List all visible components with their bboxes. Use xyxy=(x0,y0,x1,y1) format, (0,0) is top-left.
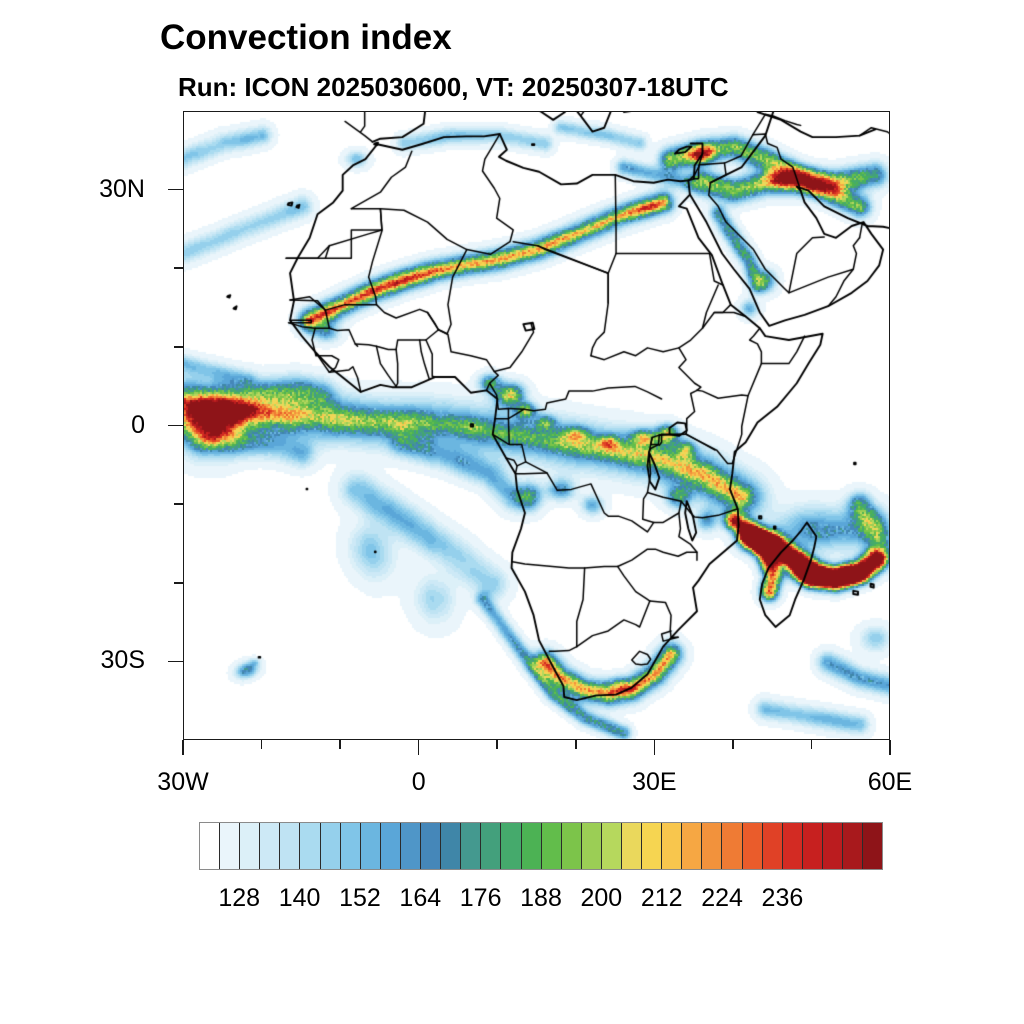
colorbar-cell-0 xyxy=(200,823,220,869)
x-tick-20 xyxy=(575,740,577,749)
colorbar-cell-29 xyxy=(783,823,803,869)
colorbar-cell-30 xyxy=(803,823,823,869)
colorbar-cell-9 xyxy=(381,823,401,869)
colorbar-cell-22 xyxy=(642,823,662,869)
y-tick-20 xyxy=(174,267,183,269)
colorbar-cell-23 xyxy=(662,823,682,869)
y-axis-label-0: 0 xyxy=(25,411,145,440)
y-tick--20 xyxy=(174,582,183,584)
figure-subtitle: Run: ICON 2025030600, VT: 20250307-18UTC xyxy=(178,72,729,103)
x-tick-30 xyxy=(654,740,656,755)
colorbar-cell-2 xyxy=(240,823,260,869)
x-tick-0 xyxy=(418,740,420,755)
colorbar-cell-7 xyxy=(341,823,361,869)
convection-index-heatmap xyxy=(184,112,890,740)
colorbar-cell-32 xyxy=(843,823,863,869)
colorbar-cell-15 xyxy=(501,823,521,869)
colorbar-cell-26 xyxy=(722,823,742,869)
colorbar-cell-14 xyxy=(481,823,501,869)
map-plot-area xyxy=(183,111,890,740)
x-axis-label-60E: 60E xyxy=(830,768,950,797)
colorbar-cell-13 xyxy=(461,823,481,869)
colorbar-cell-5 xyxy=(300,823,320,869)
x-tick-50 xyxy=(811,740,813,749)
colorbar-cell-18 xyxy=(562,823,582,869)
colorbar-cell-28 xyxy=(763,823,783,869)
colorbar-cell-4 xyxy=(280,823,300,869)
x-axis-label-0: 0 xyxy=(359,768,479,797)
colorbar-cell-3 xyxy=(260,823,280,869)
colorbar-tick-236: 236 xyxy=(737,884,827,913)
colorbar-cell-12 xyxy=(441,823,461,869)
x-tick-40 xyxy=(732,740,734,749)
colorbar-cell-27 xyxy=(743,823,763,869)
y-tick-30 xyxy=(168,189,183,191)
colorbar-cell-17 xyxy=(542,823,562,869)
colorbar-cell-19 xyxy=(582,823,602,869)
page-title: Convection index xyxy=(160,18,452,58)
colorbar-cell-6 xyxy=(321,823,341,869)
colorbar-cell-33 xyxy=(863,823,882,869)
figure-canvas: Convection index Run: ICON 2025030600, V… xyxy=(0,0,1024,1024)
x-tick--30 xyxy=(182,740,184,755)
x-tick--10 xyxy=(339,740,341,749)
colorbar-cell-11 xyxy=(421,823,441,869)
y-tick--30 xyxy=(168,661,183,663)
y-tick-0 xyxy=(168,425,183,427)
colorbar-cell-21 xyxy=(622,823,642,869)
colorbar-cell-31 xyxy=(823,823,843,869)
x-tick--20 xyxy=(261,740,263,749)
colorbar-cell-24 xyxy=(682,823,702,869)
colorbar-cell-1 xyxy=(220,823,240,869)
colorbar-cell-16 xyxy=(522,823,542,869)
colorbar-cell-10 xyxy=(401,823,421,869)
colorbar-cell-8 xyxy=(361,823,381,869)
x-axis-label-30E: 30E xyxy=(594,768,714,797)
x-tick-10 xyxy=(496,740,498,749)
colorbar xyxy=(199,822,883,870)
y-tick-10 xyxy=(174,346,183,348)
y-axis-label-30S: 30S xyxy=(25,646,145,675)
y-axis-label-30N: 30N xyxy=(25,175,145,204)
colorbar-cell-25 xyxy=(702,823,722,869)
x-tick-60 xyxy=(889,740,891,755)
x-axis-label-30W: 30W xyxy=(123,768,243,797)
colorbar-cell-20 xyxy=(602,823,622,869)
y-tick--10 xyxy=(174,503,183,505)
